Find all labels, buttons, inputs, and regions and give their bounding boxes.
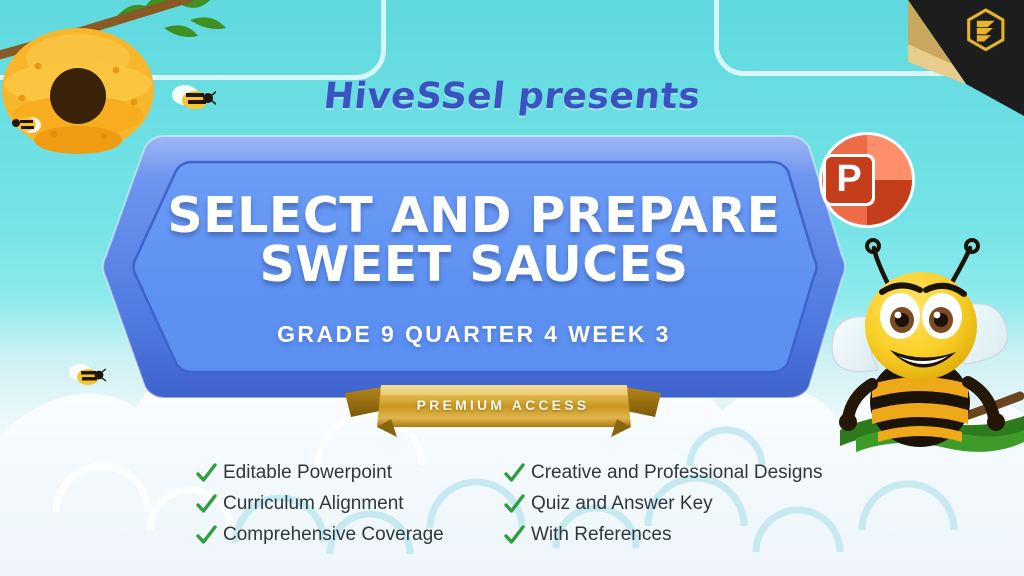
feature-label: Quiz and Answer Key bbox=[531, 493, 713, 515]
check-icon bbox=[196, 525, 217, 546]
slide-canvas: HiveSSel presents bbox=[0, 0, 1024, 576]
page-title: SELECT AND PREPARE SWEET SAUCES bbox=[167, 192, 780, 288]
list-item: Editable Powerpoint bbox=[196, 462, 492, 484]
list-item: Quiz and Answer Key bbox=[504, 493, 896, 515]
list-item: Creative and Professional Designs bbox=[504, 462, 896, 484]
powerpoint-logo-icon: P bbox=[813, 128, 917, 232]
check-icon bbox=[504, 525, 525, 546]
page-subtitle: GRADE 9 QUARTER 4 WEEK 3 bbox=[277, 321, 671, 348]
check-icon bbox=[196, 494, 217, 515]
feature-column-left: Editable Powerpoint Curriculum Alignment… bbox=[196, 462, 492, 546]
feature-label: With References bbox=[531, 524, 671, 546]
feature-column-right: Creative and Professional Designs Quiz a… bbox=[504, 462, 896, 546]
presents-heading: HiveSSel presents bbox=[0, 76, 1024, 117]
check-icon bbox=[504, 463, 525, 484]
feature-list: Editable Powerpoint Curriculum Alignment… bbox=[196, 462, 896, 546]
check-icon bbox=[504, 494, 525, 515]
premium-ribbon: PREMIUM ACCESS bbox=[345, 383, 661, 437]
feature-label: Creative and Professional Designs bbox=[531, 462, 823, 484]
corner-fold-brand bbox=[908, 0, 1024, 116]
title-line-2: SWEET SAUCES bbox=[167, 241, 780, 289]
list-item: With References bbox=[504, 524, 896, 546]
title-line-1: SELECT AND PREPARE bbox=[167, 192, 780, 240]
list-item: Curriculum Alignment bbox=[196, 493, 492, 515]
svg-text:P: P bbox=[836, 158, 861, 200]
feature-label: Comprehensive Coverage bbox=[223, 524, 444, 546]
check-icon bbox=[196, 463, 217, 484]
premium-ribbon-label: PREMIUM ACCESS bbox=[345, 397, 661, 413]
feature-label: Editable Powerpoint bbox=[223, 462, 392, 484]
title-banner: SELECT AND PREPARE SWEET SAUCES GRADE 9 … bbox=[100, 128, 848, 406]
list-item: Comprehensive Coverage bbox=[196, 524, 492, 546]
feature-label: Curriculum Alignment bbox=[223, 493, 404, 515]
bee-mascot-illustration bbox=[828, 232, 1024, 470]
